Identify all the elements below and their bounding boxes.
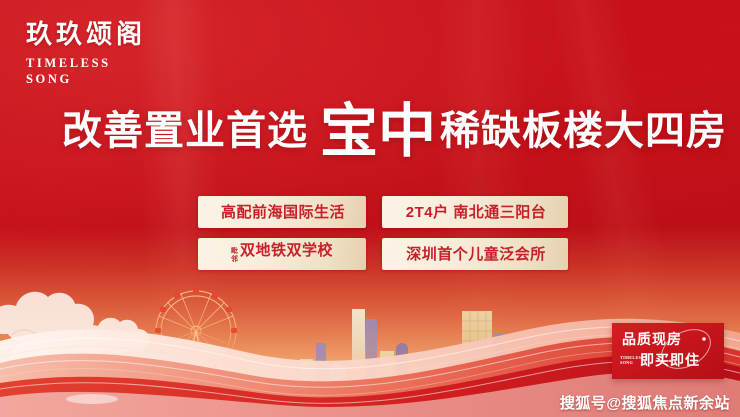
feature-tag-content: 毗 邻 双地铁双学校 <box>231 243 333 265</box>
badge-line1: 品质现房 <box>622 332 682 346</box>
feature-tag-list: 高配前海国际生活 2T4户 南北通三阳台 毗 邻 双地铁双学校 <box>198 196 570 270</box>
feature-tag-label: 高配前海国际生活 <box>221 205 345 220</box>
feature-tag-label: 深圳首个儿童泛会所 <box>406 247 546 262</box>
badge-line2: 即买即住 <box>640 353 700 367</box>
watermark: 搜狐号@搜狐焦点新余站 <box>560 396 730 411</box>
feature-tag[interactable]: 高配前海国际生活 <box>198 196 366 228</box>
feature-tag-content: 2T4户 南北通三阳台 <box>404 205 547 220</box>
feature-tag-content: 深圳首个儿童泛会所 <box>404 247 546 262</box>
status-badge: 品质现房 TIMELESS SONG 即买即住 <box>612 323 724 379</box>
feature-tag-prefix: 毗 邻 <box>231 248 238 263</box>
brand-logo-en: TIMELESS SONG <box>26 55 146 87</box>
headline-part2: 稀缺板楼大四房 <box>440 111 727 151</box>
headline-part1: 改善置业首选 <box>62 111 308 151</box>
brand-logo-en-line1: TIMELESS <box>26 55 146 71</box>
feature-tag-prefix-char2: 邻 <box>231 256 238 263</box>
feature-tag-content: 高配前海国际生活 <box>219 205 345 220</box>
feature-tag[interactable]: 深圳首个儿童泛会所 <box>382 238 568 270</box>
real-estate-poster: 玖玖颂阁 TIMELESS SONG 改善置业首选 宝中 稀缺板楼大四房 高配前… <box>0 0 740 417</box>
brand-logo-cn: 玖玖颂阁 <box>26 22 146 48</box>
brand-logo-en-line2: SONG <box>26 71 146 87</box>
page-title: 改善置业首选 宝中 稀缺板楼大四房 <box>62 100 692 162</box>
feature-tag-label: 双地铁双学校 <box>240 243 333 258</box>
headline-emphasis: 宝中 <box>320 103 436 161</box>
feature-tag[interactable]: 2T4户 南北通三阳台 <box>382 196 568 228</box>
brand-logo: 玖玖颂阁 TIMELESS SONG <box>26 22 146 87</box>
feature-tag-label: 2T4户 南北通三阳台 <box>406 205 547 220</box>
feature-tag[interactable]: 毗 邻 双地铁双学校 <box>198 238 366 270</box>
feature-tag-prefix-char1: 毗 <box>231 248 238 255</box>
